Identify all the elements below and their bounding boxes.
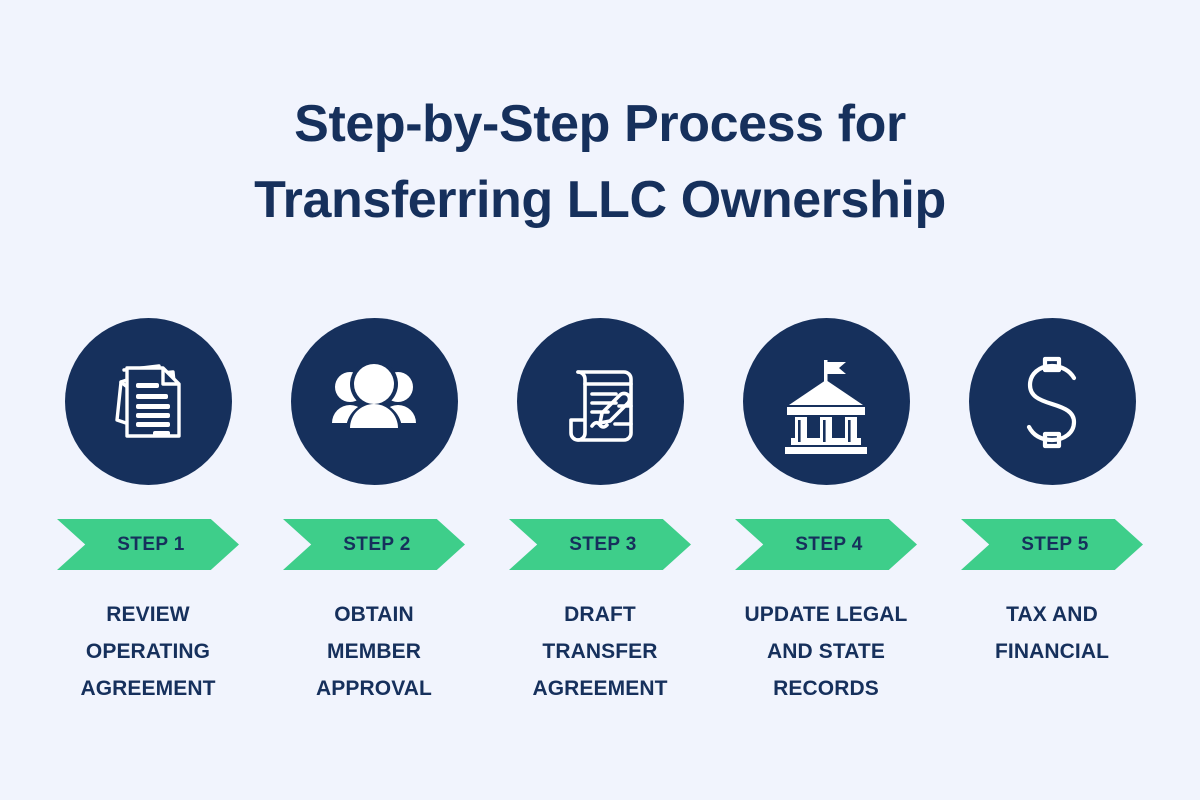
process-step-2[interactable]: STEP 2 OBTAIN MEMBER APPROVAL [261,318,487,707]
step-3-icon-circle [517,318,684,485]
step-3-caption: DRAFT TRANSFER AGREEMENT [495,596,705,707]
step-4-caption-line-3: RECORDS [721,670,931,707]
step-2-badge[interactable]: STEP 2 [283,519,465,570]
process-step-3[interactable]: STEP 3 DRAFT TRANSFER AGREEMENT [487,318,713,707]
step-1-badge[interactable]: STEP 1 [57,519,239,570]
step-5-caption-line-1: TAX AND [947,596,1157,633]
process-step-1[interactable]: STEP 1 REVIEW OPERATING AGREEMENT [35,318,261,707]
contract-signing-icon [548,350,652,454]
process-step-4[interactable]: STEP 4 UPDATE LEGAL AND STATE RECORDS [713,318,939,707]
step-5-badge[interactable]: STEP 5 [961,519,1143,570]
step-4-badge-label: STEP 4 [789,535,863,554]
step-3-badge[interactable]: STEP 3 [509,519,691,570]
page-title-line-1: Step-by-Step Process for [0,86,1200,162]
page-title-line-2: Transferring LLC Ownership [0,162,1200,238]
step-4-caption: UPDATE LEGAL AND STATE RECORDS [721,596,931,707]
step-5-caption: TAX AND FINANCIAL [947,596,1157,670]
step-5-icon-circle [969,318,1136,485]
step-1-caption-line-1: REVIEW [43,596,253,633]
step-2-caption-line-3: APPROVAL [269,670,479,707]
step-1-caption: REVIEW OPERATING AGREEMENT [43,596,253,707]
government-building-icon [774,350,878,454]
step-1-badge-label: STEP 1 [111,535,185,554]
step-4-caption-line-2: AND STATE [721,633,931,670]
step-5-badge-label: STEP 5 [1015,535,1089,554]
step-2-caption-line-2: MEMBER [269,633,479,670]
step-5-caption-line-2: FINANCIAL [947,633,1157,670]
step-2-caption: OBTAIN MEMBER APPROVAL [269,596,479,707]
dollar-sign-icon [1000,350,1104,454]
process-step-5[interactable]: STEP 5 TAX AND FINANCIAL [939,318,1165,670]
process-steps-row: STEP 1 REVIEW OPERATING AGREEMENT [35,318,1165,707]
step-4-icon-circle [743,318,910,485]
step-1-caption-line-2: OPERATING [43,633,253,670]
step-1-icon-circle [65,318,232,485]
step-2-badge-label: STEP 2 [337,535,411,554]
infographic-canvas: Step-by-Step Process for Transferring LL… [0,0,1200,800]
step-3-caption-line-3: AGREEMENT [495,670,705,707]
step-3-caption-line-2: TRANSFER [495,633,705,670]
page-title: Step-by-Step Process for Transferring LL… [0,86,1200,238]
step-1-caption-line-3: AGREEMENT [43,670,253,707]
people-group-icon [322,350,426,454]
step-2-icon-circle [291,318,458,485]
step-4-caption-line-1: UPDATE LEGAL [721,596,931,633]
step-3-badge-label: STEP 3 [563,535,637,554]
step-3-caption-line-1: DRAFT [495,596,705,633]
step-2-caption-line-1: OBTAIN [269,596,479,633]
documents-stack-icon [96,350,200,454]
step-4-badge[interactable]: STEP 4 [735,519,917,570]
